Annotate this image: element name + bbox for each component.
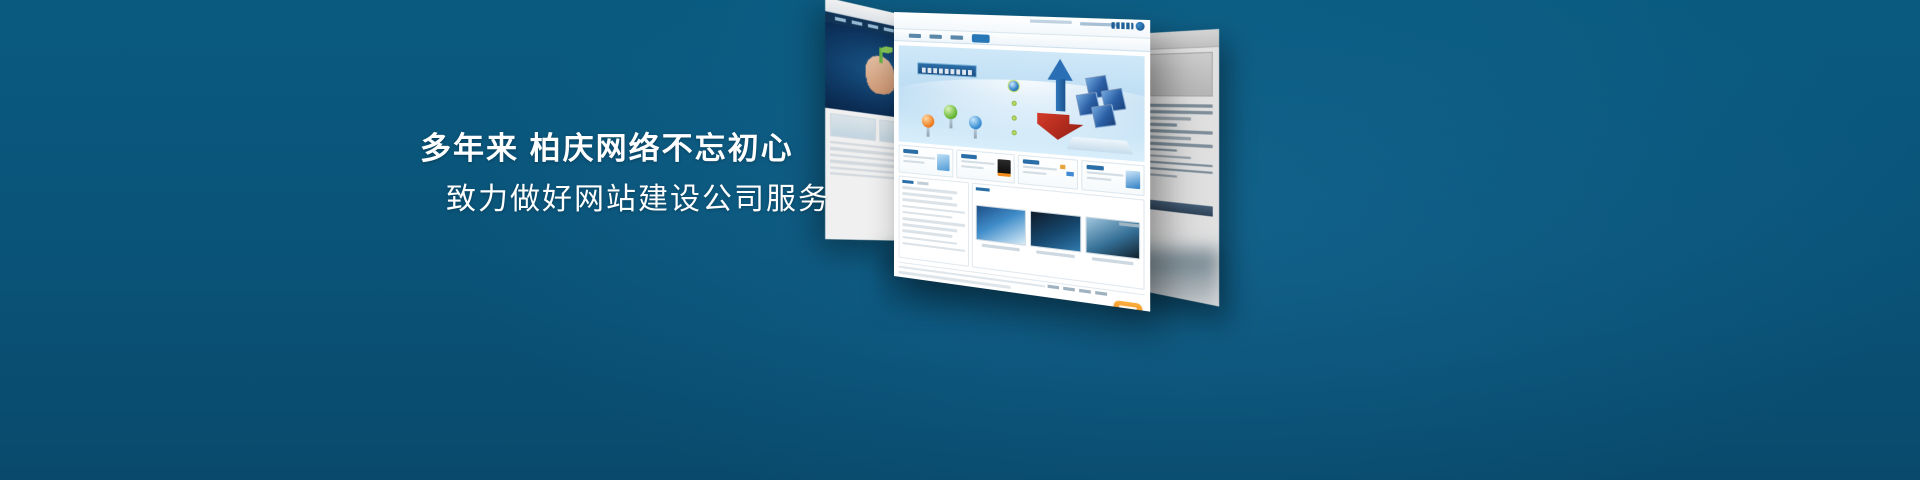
cases-title: [976, 187, 990, 191]
card-line: [1086, 171, 1123, 176]
case-caption: [1036, 250, 1075, 258]
logo-text: [1111, 22, 1133, 29]
logo-swirl-icon: [1136, 22, 1145, 31]
header-slogan-en: [1030, 19, 1072, 23]
case-thumbnail[interactable]: [1030, 210, 1082, 258]
website-mockup-main[interactable]: [894, 12, 1150, 312]
footer-link[interactable]: [1063, 287, 1075, 292]
feature-card[interactable]: [957, 149, 1015, 183]
left-nav-item[interactable]: [884, 27, 894, 32]
bullet-dot: [1012, 115, 1017, 121]
globe-green-icon: [944, 104, 957, 119]
case-caption: [1092, 257, 1133, 265]
tab-industry-news[interactable]: [917, 181, 928, 185]
bullet-dot: [1012, 130, 1017, 136]
footer-link[interactable]: [1079, 289, 1091, 294]
case-thumbnail[interactable]: [976, 205, 1026, 252]
globe-orange-icon: [922, 114, 934, 128]
feature-card[interactable]: [1017, 155, 1078, 190]
nav-item-products[interactable]: [950, 35, 963, 40]
phone-icon: [997, 159, 1010, 177]
nav-item-home[interactable]: [909, 33, 921, 38]
nav-item-about[interactable]: [929, 34, 941, 39]
document-icon: [937, 154, 949, 171]
news-panel: [899, 175, 969, 266]
left-nav-item[interactable]: [835, 17, 846, 22]
case-caption: [982, 244, 1020, 251]
card-title: [1086, 165, 1103, 170]
site-logo[interactable]: [1111, 21, 1144, 31]
case-image: [976, 205, 1026, 246]
card-line: [961, 165, 984, 169]
website-mockup-group: [830, 0, 1530, 480]
hero-banner: 多年来 柏庆网络不忘初心 致力做好网站建设公司服务: [0, 0, 1920, 480]
footer-links: [1048, 285, 1108, 296]
left-nav-item[interactable]: [852, 21, 863, 26]
badge-icon: [1008, 79, 1020, 92]
main-hero-banner: [899, 45, 1145, 162]
card-line: [903, 159, 925, 163]
card-line: [961, 160, 994, 165]
hero-title-plate: [917, 62, 977, 77]
bullet-dot: [1012, 101, 1017, 107]
footer-link[interactable]: [1048, 285, 1059, 290]
monitor-icon: [1126, 170, 1140, 189]
card-line: [1086, 176, 1111, 180]
globe-blue-icon: [969, 115, 982, 129]
grid-icon: [1060, 165, 1074, 183]
arrow-up-icon: [1048, 58, 1073, 81]
card-line: [1022, 165, 1057, 170]
card-line: [903, 155, 935, 160]
arrow-up-stem: [1056, 79, 1065, 112]
card-title: [903, 149, 918, 154]
case-thumbnail-row: [976, 205, 1140, 266]
feature-card[interactable]: [1081, 160, 1145, 196]
footer-link[interactable]: [1095, 291, 1107, 296]
left-nav-item[interactable]: [868, 24, 878, 29]
cube: [1091, 104, 1117, 129]
feature-card[interactable]: [899, 144, 954, 177]
card-title: [961, 154, 977, 159]
card-title: [1022, 159, 1038, 164]
tab-company-news[interactable]: [902, 180, 913, 184]
nav-item-news-active[interactable]: [972, 34, 990, 43]
left-product-card[interactable]: [830, 113, 876, 141]
cube-stack-graphic: [1072, 72, 1131, 129]
case-image: [1030, 210, 1082, 252]
card-line: [1022, 170, 1046, 174]
